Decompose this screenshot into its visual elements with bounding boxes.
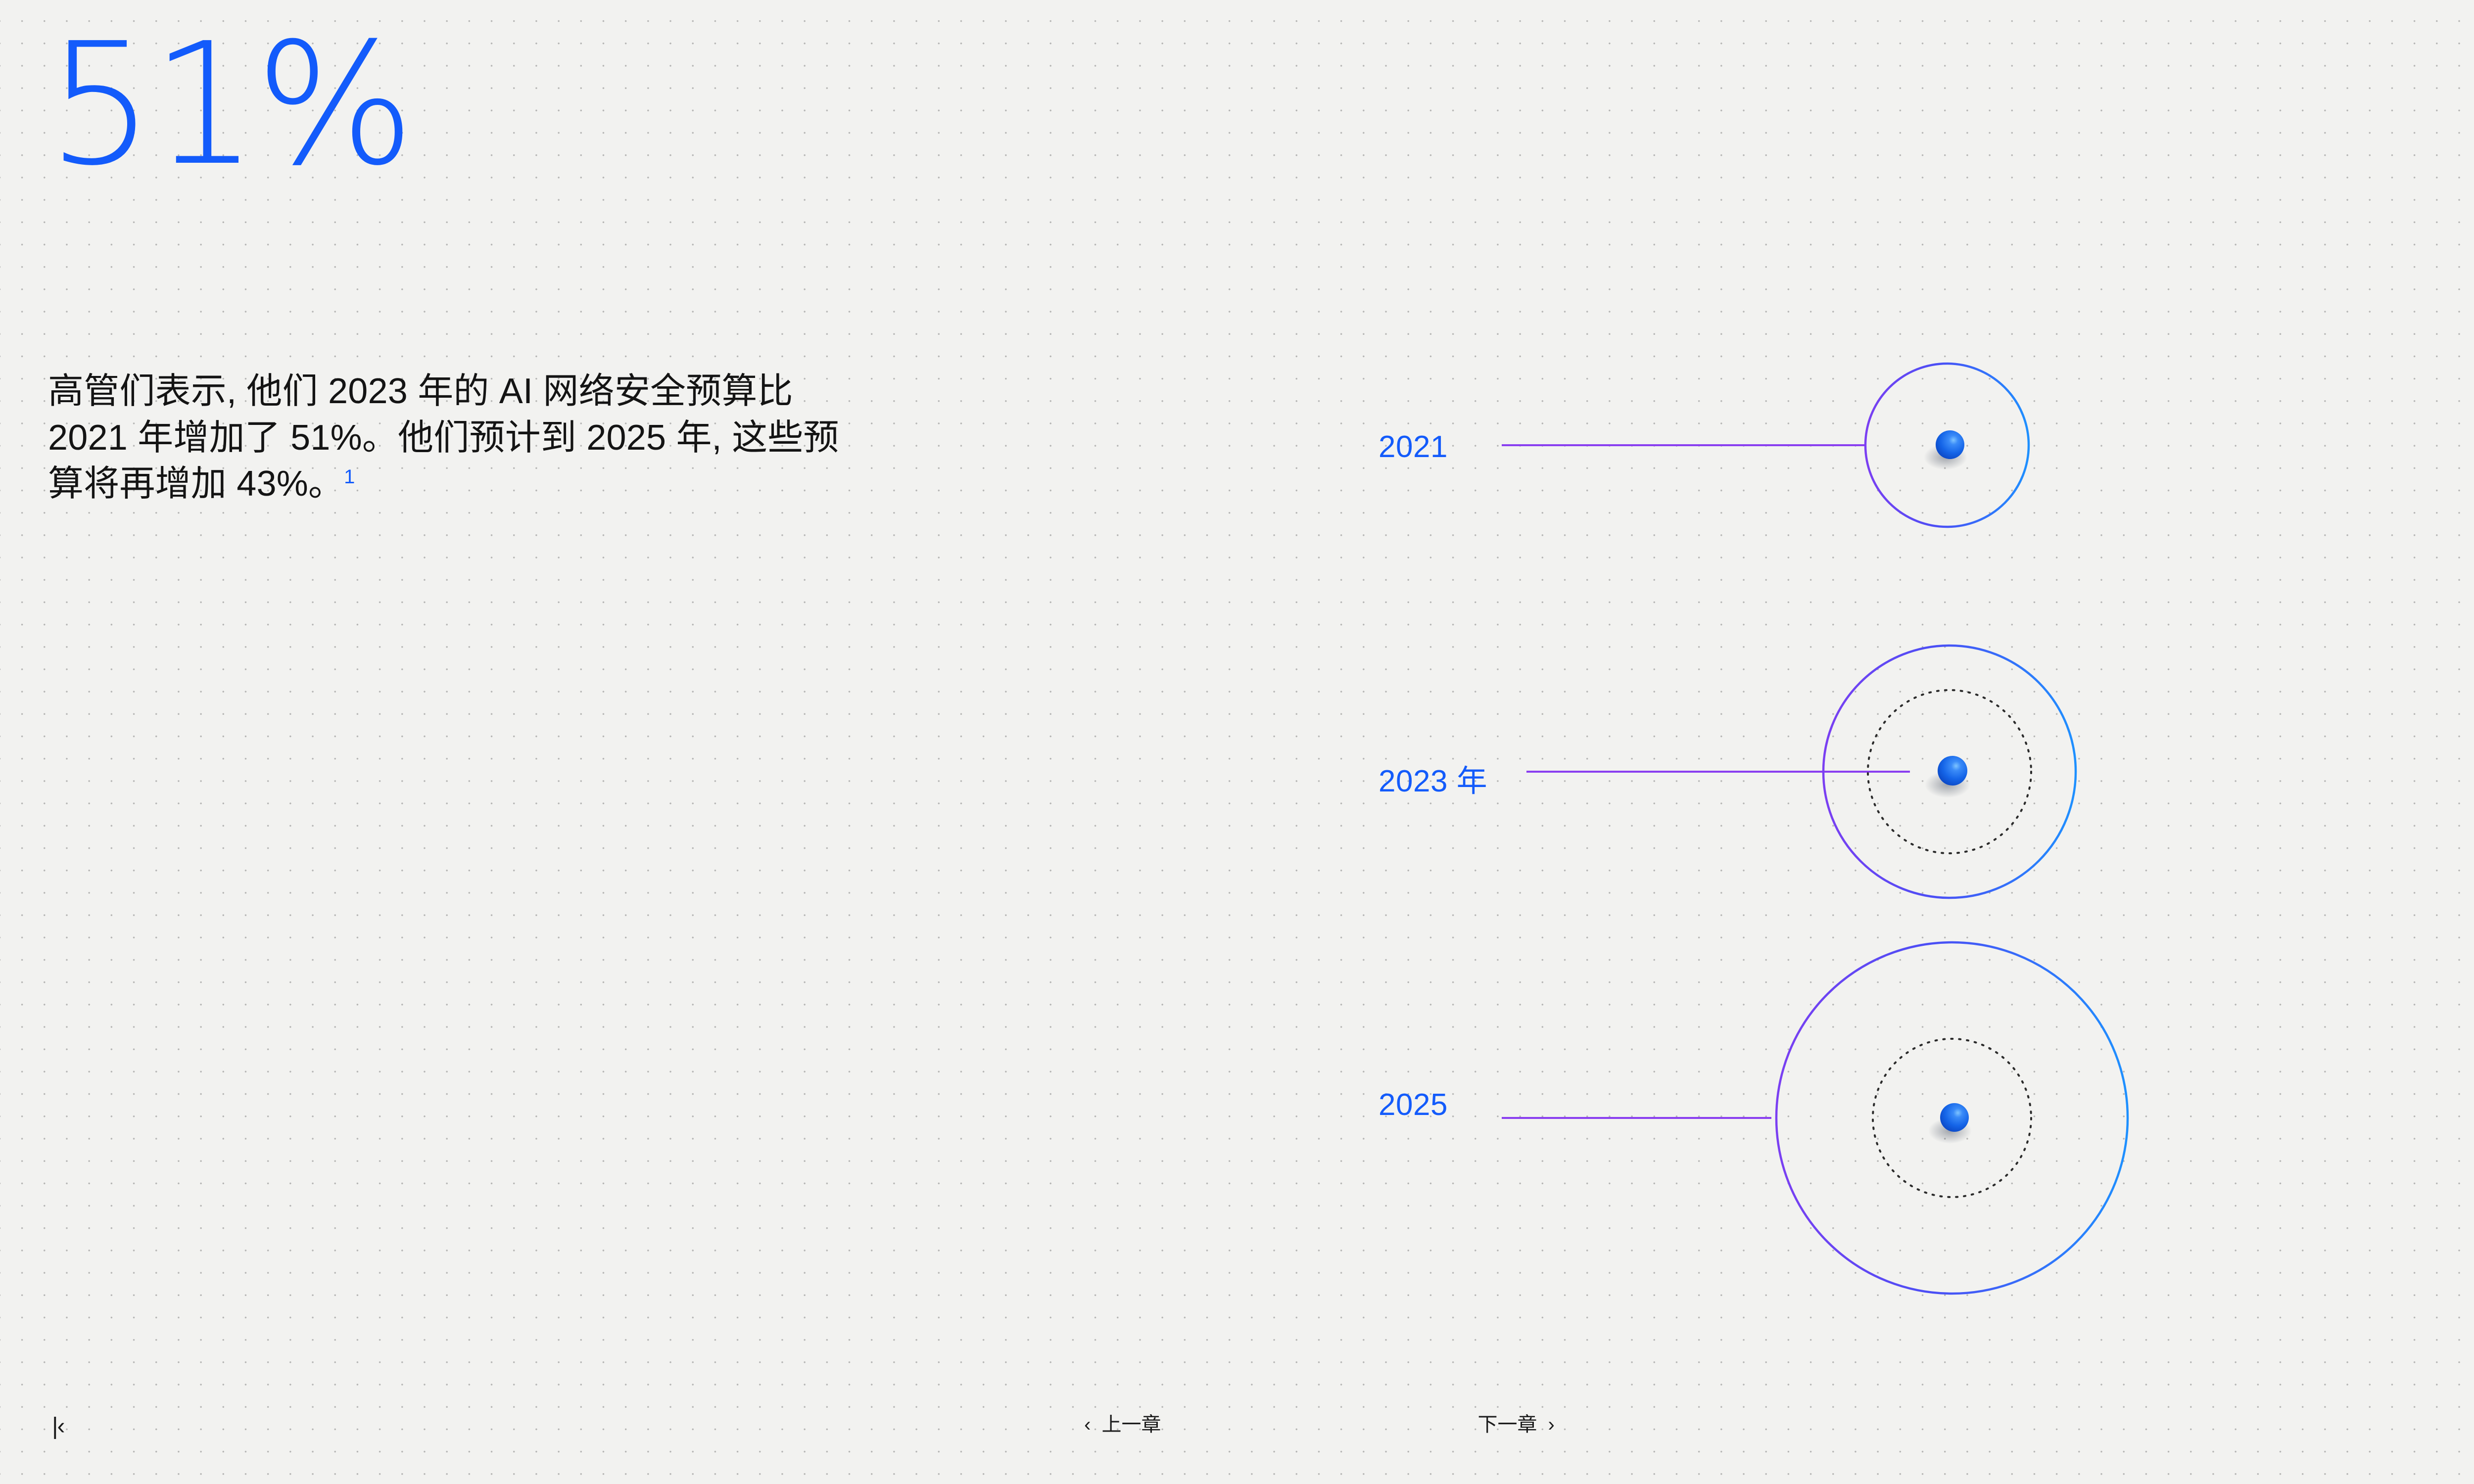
chevron-left-icon: ‹	[1084, 1415, 1091, 1435]
bottom-navigation-bar: |‹ ‹ 上一章 下一章 › 8	[0, 1385, 2474, 1484]
bubble-label-2021: 2021	[1379, 429, 1448, 464]
next-chapter-label: 下一章	[1478, 1415, 1537, 1435]
bubble-chart-svg	[1336, 297, 2227, 1336]
chapter-navigation: ‹ 上一章 下一章 ›	[0, 1415, 2474, 1435]
bubble-2021-core-dot	[1936, 430, 1964, 459]
bubble-label-2023: 2023 年	[1379, 756, 1487, 800]
bubble-2023-core-dot	[1938, 756, 1967, 786]
connector-lines	[1502, 445, 1910, 1118]
body-text: 高管们表示, 他们 2023 年的 AI 网络安全预算比 2021 年增加了 5…	[48, 371, 839, 504]
bubble-chart: 2021 2023 年 2025	[1336, 297, 2227, 1336]
next-chapter-button[interactable]: 下一章 ›	[1478, 1415, 1555, 1435]
bubble-label-2025: 2025	[1379, 1087, 1448, 1122]
previous-chapter-button[interactable]: ‹ 上一章	[1084, 1415, 1161, 1435]
page-title: 51%	[47, 21, 412, 189]
chevron-right-icon: ›	[1548, 1415, 1555, 1435]
previous-chapter-label: 上一章	[1102, 1415, 1161, 1435]
body-paragraph: 高管们表示, 他们 2023 年的 AI 网络安全预算比 2021 年增加了 5…	[48, 369, 852, 508]
footnote-marker: 1	[344, 466, 355, 488]
bubble-2025[interactable]	[1776, 942, 2128, 1294]
bubble-2025-core-dot	[1940, 1103, 1969, 1132]
bubble-2021[interactable]	[1865, 364, 2029, 527]
left-content-column: 51% 高管们表示, 他们 2023 年的 AI 网络安全预算比 2021 年增…	[47, 0, 888, 1484]
